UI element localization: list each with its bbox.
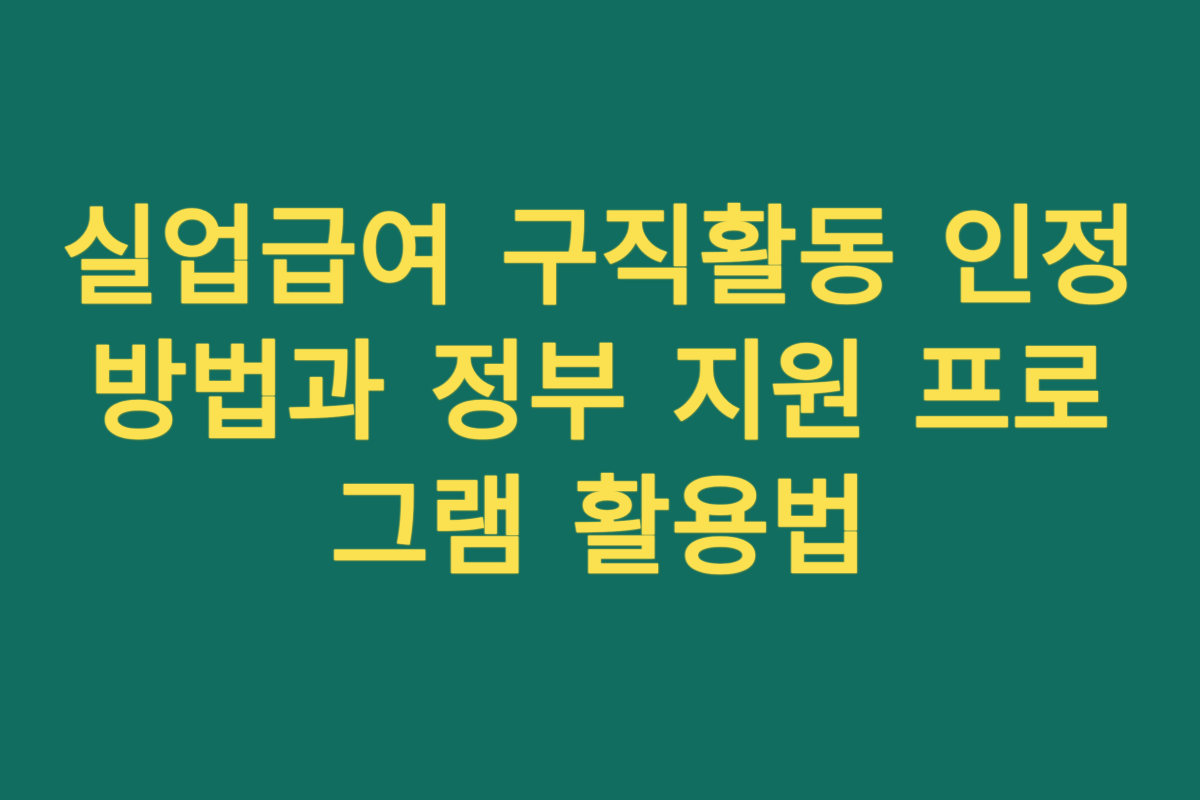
title-block: 실업급여 구직활동 인정 방법과 정부 지원 프로 그램 활용법: [60, 191, 1140, 596]
thumbnail-canvas: 실업급여 구직활동 인정 방법과 정부 지원 프로 그램 활용법: [0, 0, 1200, 800]
title-line-1: 실업급여 구직활동 인정: [60, 191, 1140, 326]
title-line-3: 그램 활용법: [60, 461, 1140, 596]
title-line-2: 방법과 정부 지원 프로: [60, 326, 1140, 461]
